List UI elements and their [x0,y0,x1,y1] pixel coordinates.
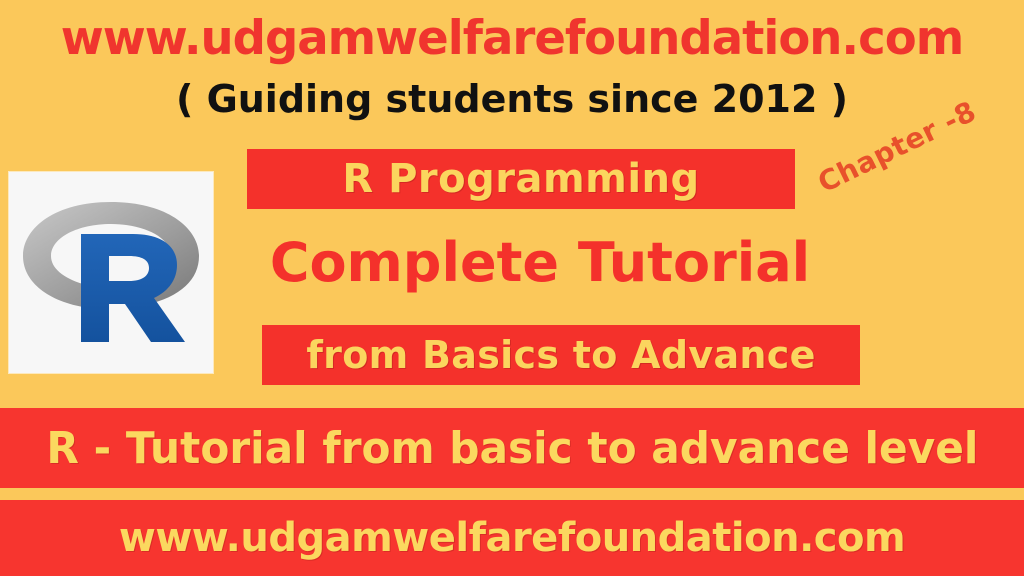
course-scope-label: from Basics to Advance [306,333,815,377]
poster-canvas: www.udgamwelfarefoundation.com ( Guiding… [0,0,1024,576]
banner-divider-strip [0,488,1024,500]
tagline-banner-label: R - Tutorial from basic to advance level [46,423,978,474]
course-title-label: R Programming [342,156,699,202]
course-title-box: R Programming [247,149,795,209]
header-tagline: ( Guiding students since 2012 ) [0,74,1024,124]
site-url-header: www.udgamwelfarefoundation.com [5,10,1019,68]
footer-banner: www.udgamwelfarefoundation.com [0,500,1024,576]
footer-url-label: www.udgamwelfarefoundation.com [119,515,905,561]
r-logo-tile [9,172,213,373]
course-subtitle-label: Complete Tutorial [240,227,840,299]
r-programming-logo-icon [9,172,213,373]
course-scope-box: from Basics to Advance [262,325,860,385]
tagline-banner: R - Tutorial from basic to advance level [0,408,1024,488]
